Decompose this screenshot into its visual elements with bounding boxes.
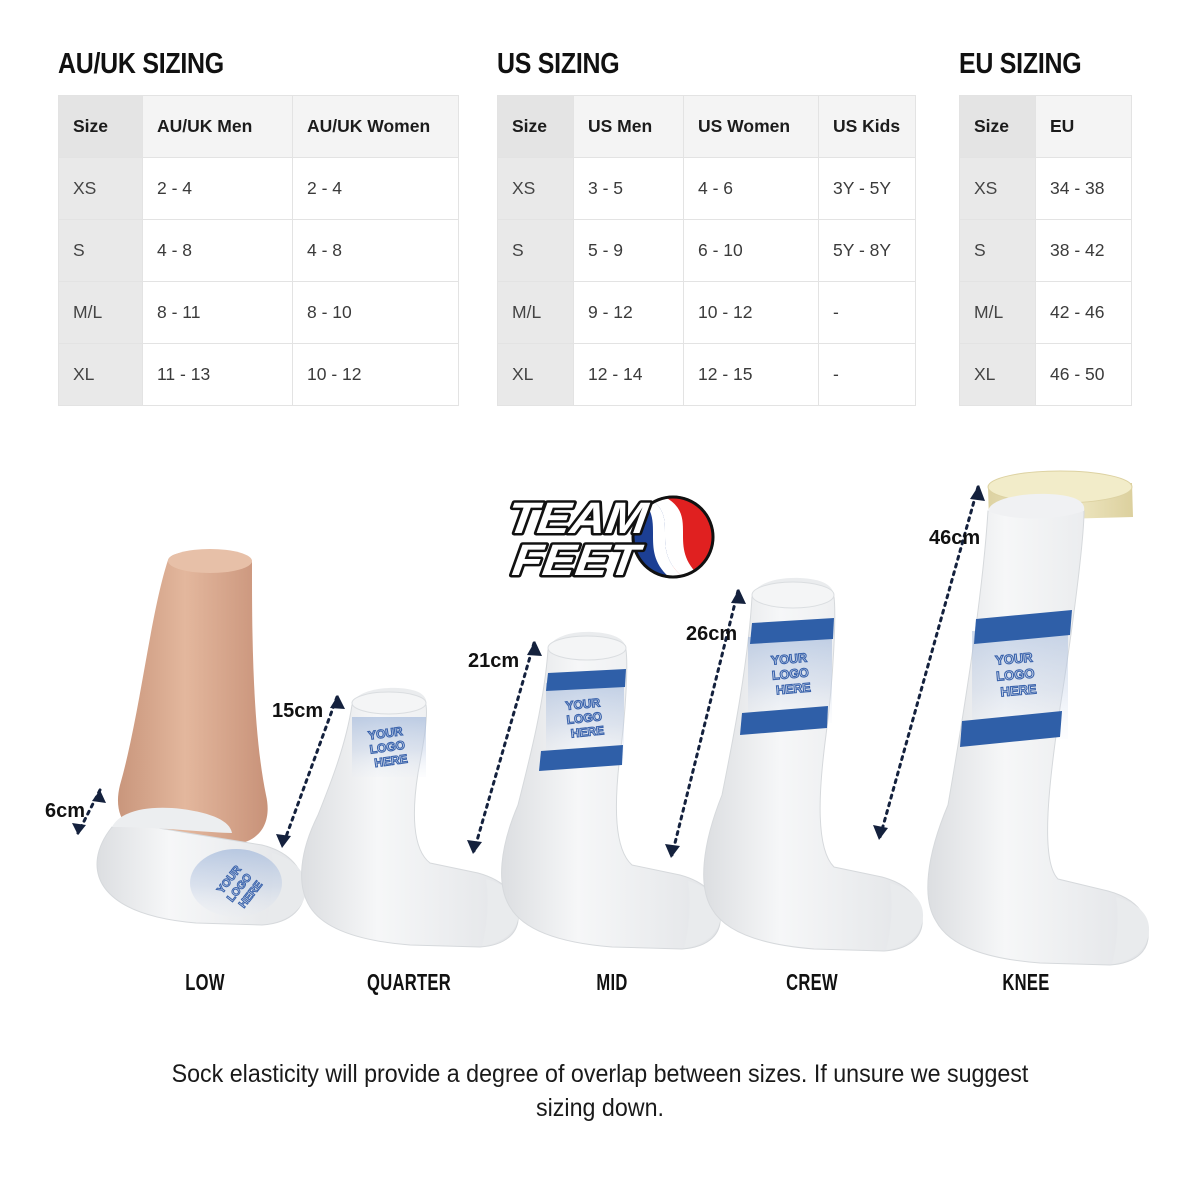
sock-toe-crew [886, 883, 923, 950]
cell-kids: - [819, 344, 916, 406]
cell-men: 8 - 11 [143, 282, 293, 344]
cell-men: 4 - 8 [143, 220, 293, 282]
cell-women: 4 - 8 [293, 220, 459, 282]
cell-size: S [59, 220, 143, 282]
cell-eu: 38 - 42 [1036, 220, 1132, 282]
mannequin-top [168, 549, 252, 573]
cell-women: 10 - 12 [293, 344, 459, 406]
dimension-label-low: 6cm [45, 800, 85, 823]
column-header-us-kids: US Kids [819, 96, 916, 158]
table-row: S 38 - 42 [960, 220, 1132, 282]
cell-women: 4 - 6 [684, 158, 819, 220]
cell-size: XS [498, 158, 574, 220]
sock-figure-knee: YOUR LOGO HERE [873, 471, 1149, 965]
au-uk-sizing-title: AU/UK SIZING [58, 48, 403, 81]
cell-size: XL [498, 344, 574, 406]
cell-kids: - [819, 282, 916, 344]
cell-size: M/L [960, 282, 1036, 344]
mannequin-foot [118, 551, 268, 845]
cell-women: 2 - 4 [293, 158, 459, 220]
column-header-eu: EU [1036, 96, 1132, 158]
table-row: M/L 8 - 11 8 - 10 [59, 282, 459, 344]
sock-print-text-crew: YOUR LOGO HERE [770, 650, 814, 697]
column-header-us-women: US Women [684, 96, 819, 158]
eu-sizing-title: EU SIZING [959, 48, 1108, 81]
table-header-row: Size EU [960, 96, 1132, 158]
socks-svg: YOUR LOGO HERE [0, 455, 1200, 1015]
cell-women: 12 - 15 [684, 344, 819, 406]
au-uk-sizing-table: Size AU/UK Men AU/UK Women XS 2 - 4 2 - … [58, 95, 459, 406]
table-row: S 4 - 8 4 - 8 [59, 220, 459, 282]
sock-figure-low: YOUR LOGO HERE [72, 549, 306, 925]
sock-opening-mid [548, 636, 626, 660]
dimension-label-knee: 46cm [929, 527, 980, 550]
column-header-us-men: US Men [574, 96, 684, 158]
cell-kids: 5Y - 8Y [819, 220, 916, 282]
sock-print-text-mid: YOUR LOGO HERE [565, 695, 608, 741]
cell-eu: 42 - 46 [1036, 282, 1132, 344]
cell-kids: 3Y - 5Y [819, 158, 916, 220]
column-header-size: Size [59, 96, 143, 158]
cell-size: XS [960, 158, 1036, 220]
table-header-row: Size AU/UK Men AU/UK Women [59, 96, 459, 158]
cell-men: 5 - 9 [574, 220, 684, 282]
us-sizing-table: Size US Men US Women US Kids XS 3 - 5 4 … [497, 95, 916, 406]
cell-men: 2 - 4 [143, 158, 293, 220]
dimension-label-quarter: 15cm [272, 700, 323, 723]
table-row: S 5 - 9 6 - 10 5Y - 8Y [498, 220, 916, 282]
dimension-label-crew: 26cm [686, 623, 737, 646]
table-row: M/L 42 - 46 [960, 282, 1132, 344]
cell-men: 12 - 14 [574, 344, 684, 406]
sock-figure-quarter: YOUR LOGO HERE [276, 688, 519, 947]
table-row: XL 11 - 13 10 - 12 [59, 344, 459, 406]
cell-men: 11 - 13 [143, 344, 293, 406]
cell-size: S [498, 220, 574, 282]
cell-eu: 34 - 38 [1036, 158, 1132, 220]
sock-name-low: LOW [151, 969, 259, 996]
sock-name-quarter: QUARTER [355, 969, 463, 996]
cell-size: XL [59, 344, 143, 406]
cell-women: 8 - 10 [293, 282, 459, 344]
cell-women: 6 - 10 [684, 220, 819, 282]
us-sizing-block: US SIZING Size US Men US Women US Kids X… [497, 48, 916, 406]
sock-print-text-knee: YOUR LOGO HERE [994, 649, 1040, 699]
cell-size: XL [960, 344, 1036, 406]
table-row: XS 2 - 4 2 - 4 [59, 158, 459, 220]
cell-women: 10 - 12 [684, 282, 819, 344]
sock-name-crew: CREW [758, 969, 866, 996]
column-header-au-uk-women: AU/UK Women [293, 96, 459, 158]
table-row: XL 46 - 50 [960, 344, 1132, 406]
eu-sizing-table: Size EU XS 34 - 38 S 38 - 42 M/L 42 - 46 [959, 95, 1132, 406]
cell-size: S [960, 220, 1036, 282]
table-row: XS 3 - 5 4 - 6 3Y - 5Y [498, 158, 916, 220]
column-header-size: Size [498, 96, 574, 158]
us-sizing-title: US SIZING [497, 48, 857, 81]
cell-men: 3 - 5 [574, 158, 684, 220]
dimension-label-mid: 21cm [468, 650, 519, 673]
eu-sizing-block: EU SIZING Size EU XS 34 - 38 S 38 - 42 [959, 48, 1132, 406]
sock-print-text-quarter: YOUR LOGO HERE [367, 724, 411, 771]
sizing-footnote: Sock elasticity will provide a degree of… [163, 1058, 1037, 1126]
sock-opening-quarter [352, 692, 426, 714]
cell-size: M/L [59, 282, 143, 344]
column-header-au-uk-men: AU/UK Men [143, 96, 293, 158]
sock-name-mid: MID [558, 969, 666, 996]
cell-size: M/L [498, 282, 574, 344]
sock-opening-crew [752, 582, 834, 608]
sock-toe-knee [1112, 897, 1149, 964]
sock-illustrations: YOUR LOGO HERE [0, 455, 1200, 1015]
table-row: XS 34 - 38 [960, 158, 1132, 220]
table-row: XL 12 - 14 12 - 15 - [498, 344, 916, 406]
column-header-size: Size [960, 96, 1036, 158]
cell-men: 9 - 12 [574, 282, 684, 344]
sock-size-chart-page: AU/UK SIZING Size AU/UK Men AU/UK Women … [0, 0, 1200, 1200]
cell-size: XS [59, 158, 143, 220]
cell-eu: 46 - 50 [1036, 344, 1132, 406]
au-uk-sizing-block: AU/UK SIZING Size AU/UK Men AU/UK Women … [58, 48, 459, 406]
table-header-row: Size US Men US Women US Kids [498, 96, 916, 158]
table-row: M/L 9 - 12 10 - 12 - [498, 282, 916, 344]
sock-name-knee: KNEE [972, 969, 1080, 996]
